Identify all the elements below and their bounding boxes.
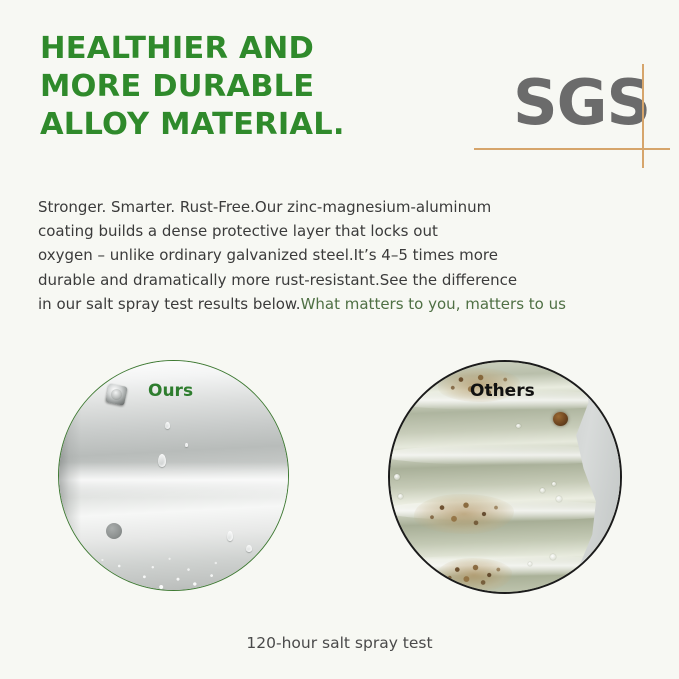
headline-line-2: MORE DURABLE [40, 68, 440, 106]
rust-patch [438, 368, 520, 402]
tagline-accent: What matters to you, matters to us [301, 295, 566, 313]
sgs-vertical-rule [642, 64, 644, 168]
description-line-2: coating builds a dense protective layer … [38, 219, 648, 243]
salt-spray-comparison [0, 358, 679, 598]
water-droplet [185, 443, 188, 447]
description-line-4: durable and dramatically more rust-resis… [38, 268, 648, 292]
rust-patch [414, 494, 514, 534]
bolt-icon [105, 383, 128, 406]
surface-pit [556, 496, 562, 502]
infographic-root: HEALTHIER AND MORE DURABLE ALLOY MATERIA… [0, 0, 679, 679]
header-section: HEALTHIER AND MORE DURABLE ALLOY MATERIA… [0, 0, 679, 172]
ours-highlight-sheen [59, 462, 288, 499]
sgs-certification-logo: SGS [474, 64, 670, 168]
surface-pit [394, 474, 400, 480]
surface-pit [540, 488, 545, 493]
sgs-horizontal-rule [474, 148, 670, 150]
comparison-caption: 120-hour salt spray test [0, 634, 679, 652]
sgs-logo-text: SGS [513, 71, 650, 135]
water-droplet [165, 422, 170, 429]
surface-pit [552, 482, 556, 486]
surface-pit [398, 494, 403, 499]
water-droplet [158, 454, 166, 467]
description-line-3: oxygen – unlike ordinary galvanized stee… [38, 243, 648, 267]
rust-nodule [553, 412, 568, 426]
sample-ours [58, 360, 289, 591]
description-line-5-plain: in our salt spray test results below. [38, 295, 301, 313]
surface-pit [516, 424, 521, 428]
rust-patch [436, 558, 512, 592]
sample-others [388, 360, 622, 594]
headline-line-3: ALLOY MATERIAL. [40, 106, 440, 144]
description-paragraph: Stronger. Smarter. Rust-Free.Our zinc-ma… [38, 195, 648, 316]
description-line-1: Stronger. Smarter. Rust-Free.Our zinc-ma… [38, 195, 648, 219]
surface-pit [528, 562, 532, 566]
description-line-5: in our salt spray test results below.Wha… [38, 292, 648, 316]
page-title: HEALTHIER AND MORE DURABLE ALLOY MATERIA… [40, 30, 440, 144]
surface-pit [550, 554, 556, 560]
headline-line-1: HEALTHIER AND [40, 30, 440, 68]
ours-water-mist [73, 530, 284, 590]
